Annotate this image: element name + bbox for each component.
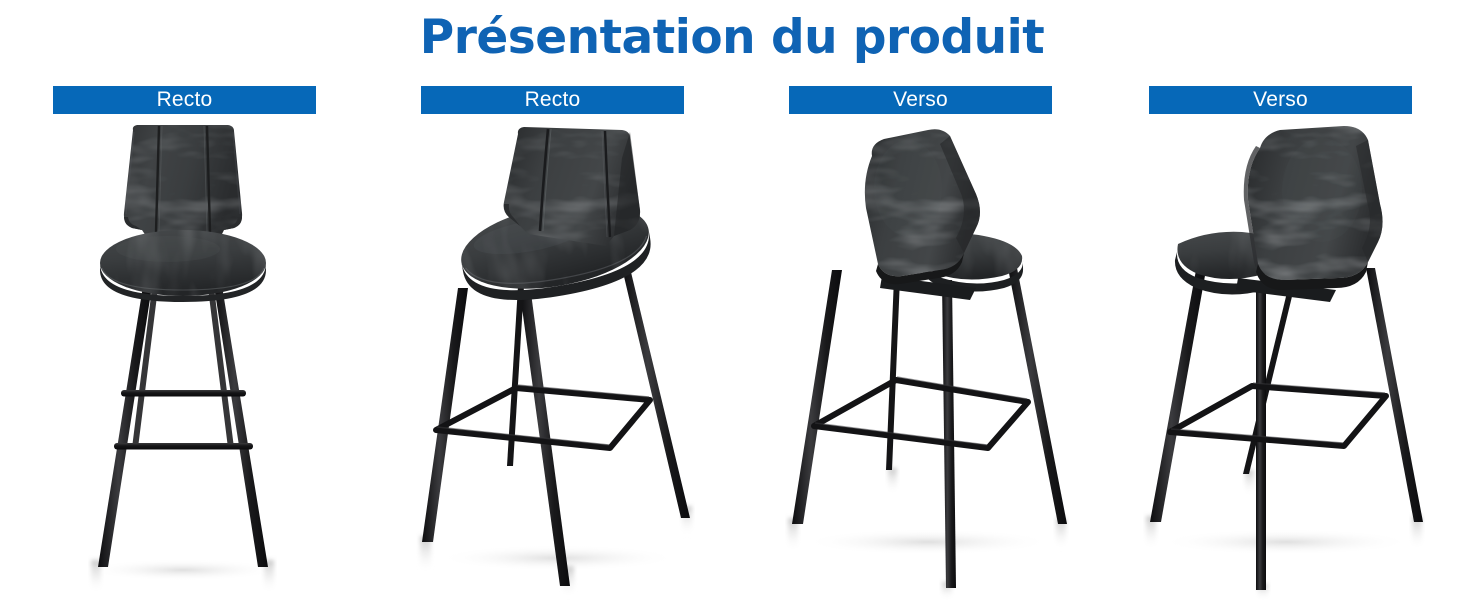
product-image-verso-left: Rear three-quarter view bar stool (770, 118, 1075, 600)
product-image-verso-right: Rear three-quarter view bar stool, oppos… (1130, 118, 1440, 600)
product-presentation-banner: Présentation du produit Recto Recto Vers… (0, 0, 1464, 600)
view-label-verso-2: Verso (1149, 86, 1412, 114)
product-image-recto-front: Front view bar stool (28, 118, 341, 600)
product-image-recto-angled: Front three-quarter view bar stool (400, 118, 705, 600)
view-label-recto-1: Recto (53, 86, 316, 114)
view-label-recto-2: Recto (421, 86, 684, 114)
view-label-verso-1: Verso (789, 86, 1052, 114)
page-title: Présentation du produit (0, 8, 1464, 68)
